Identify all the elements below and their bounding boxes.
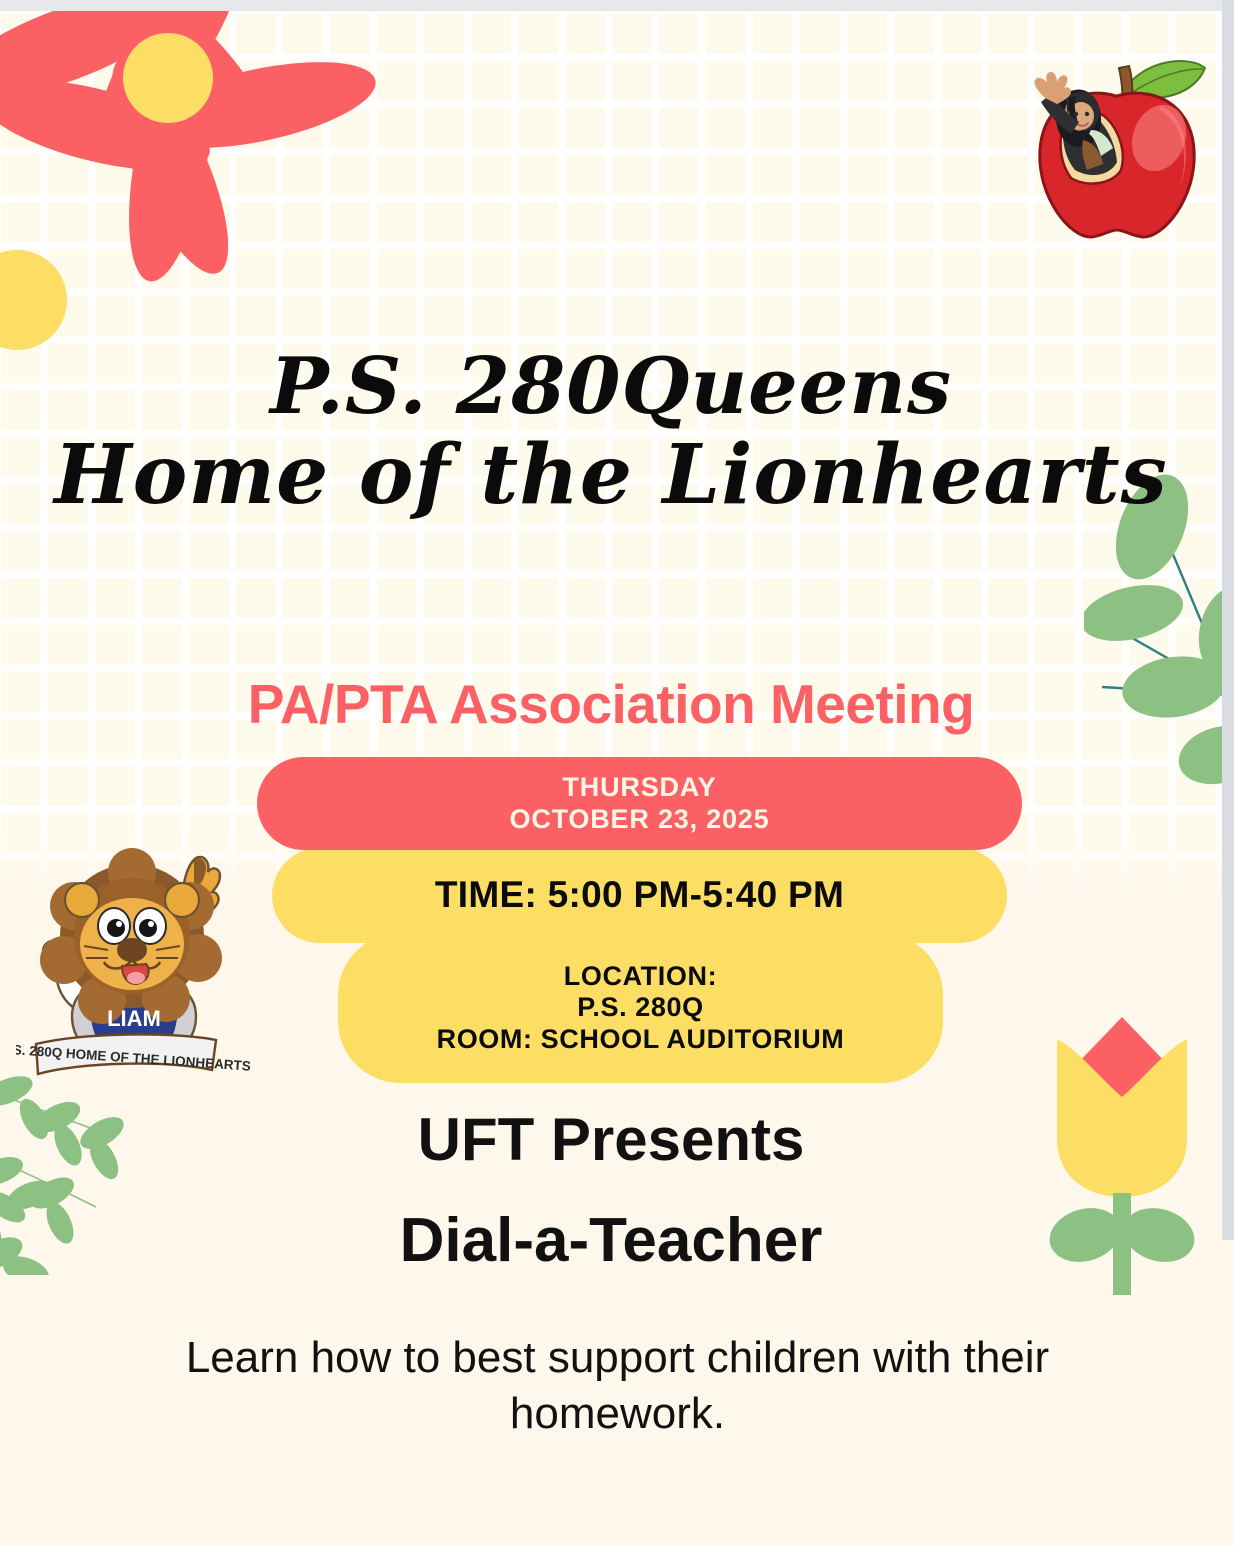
time-pill: TIME: 5:00 PM-5:40 PM bbox=[272, 848, 1007, 943]
school-title: P.S. 280Queens Home of the Lionhearts bbox=[0, 345, 1222, 520]
date-day: THURSDAY bbox=[510, 772, 770, 803]
meeting-heading: PA/PTA Association Meeting bbox=[0, 672, 1222, 736]
window-top-strip bbox=[0, 0, 1234, 11]
school-title-line1: P.S. 280Queens bbox=[0, 345, 1222, 429]
date-pill: THURSDAY OCTOBER 23, 2025 bbox=[257, 757, 1022, 850]
time-text: TIME: 5:00 PM-5:40 PM bbox=[435, 874, 844, 917]
description-text: Learn how to best support children with … bbox=[80, 1330, 1155, 1443]
presenter-line: UFT Presents bbox=[0, 1105, 1222, 1174]
location-pill: LOCATION: P.S. 280Q ROOM: SCHOOL AUDITOR… bbox=[338, 933, 943, 1083]
program-title: Dial-a-Teacher bbox=[0, 1205, 1222, 1276]
school-title-line2: Home of the Lionhearts bbox=[0, 431, 1222, 520]
location-label: LOCATION: bbox=[437, 961, 845, 992]
flyer-canvas: LIAM P.S. 280Q HOME OF THE LIONHEARTS P.… bbox=[0, 0, 1234, 1545]
location-room: ROOM: SCHOOL AUDITORIUM bbox=[437, 1024, 845, 1055]
date-full: OCTOBER 23, 2025 bbox=[510, 804, 770, 835]
flyer-content: P.S. 280Queens Home of the Lionhearts PA… bbox=[0, 0, 1234, 1545]
window-right-strip bbox=[1222, 0, 1234, 1240]
location-site: P.S. 280Q bbox=[437, 992, 845, 1023]
